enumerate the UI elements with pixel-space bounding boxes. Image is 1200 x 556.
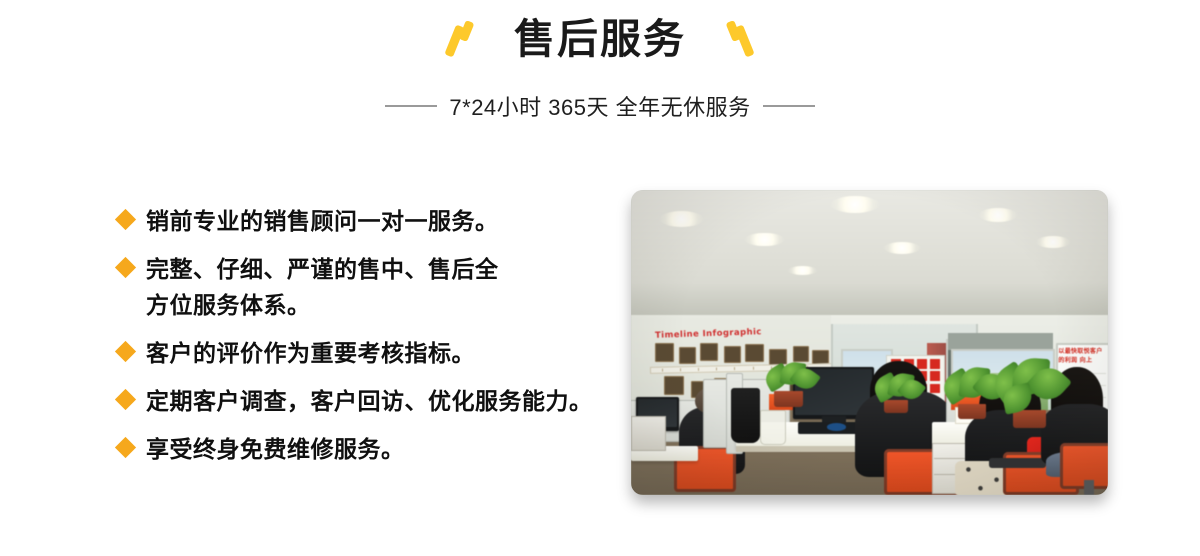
list-item-text-wrap: 完整、仔细、严谨的售中、售后全 方位服务体系。 (146, 251, 499, 323)
list-item-text: 完整、仔细、严谨的售中、售后全 (146, 256, 499, 282)
header-section: 售后服务 7*24小时 365天 全年无休服务 (0, 0, 1200, 140)
feature-list: 销前专业的销售顾问一对一服务。 完整、仔细、严谨的售中、售后全 方位服务体系。 … (118, 203, 618, 479)
chair-armrest (989, 458, 1046, 467)
double-slash-left-icon (438, 18, 480, 60)
timeline-tick (753, 367, 754, 370)
title-row: 售后服务 (0, 18, 1200, 60)
timeline-tick (734, 368, 735, 371)
window-blind (948, 333, 1053, 350)
ceiling-light (660, 211, 703, 226)
photo-frame (679, 347, 696, 364)
handbag (731, 388, 760, 443)
photo-frame (793, 346, 809, 363)
list-item: 享受终身免费维修服务。 (118, 431, 618, 467)
certificate (930, 371, 940, 381)
list-item: 完整、仔细、严谨的售中、售后全 方位服务体系。 (118, 251, 618, 323)
page-title: 售后服务 (514, 19, 686, 60)
plant-pot (1013, 410, 1046, 428)
photo-frame (724, 346, 741, 363)
page-subtitle: 7*24小时 365天 全年无休服务 (441, 90, 758, 122)
ceiling-light (745, 233, 783, 247)
photo-frame (745, 344, 763, 362)
slash-stroke-short (459, 20, 475, 42)
list-item: 客户的评价作为重要考核指标。 (118, 335, 618, 371)
certificate (917, 359, 927, 369)
list-item-text: 定期客户调查，客户回访、优化服务能力。 (146, 383, 593, 419)
plant-pot (958, 404, 987, 419)
subtitle-dash-left (385, 105, 437, 107)
double-slash-right-icon (720, 18, 762, 60)
timeline-tick (680, 369, 681, 372)
ceiling-light (884, 242, 920, 254)
ceiling-light (831, 196, 879, 213)
plant-pot (884, 400, 908, 412)
subtitle-row: 7*24小时 365天 全年无休服务 (0, 90, 1200, 122)
office-photo-content: Timeline Infographic (631, 190, 1108, 495)
photo-frame (664, 376, 683, 394)
list-item-text: 享受终身免费维修服务。 (146, 431, 405, 467)
photo-frame (700, 343, 718, 361)
mouse (827, 423, 846, 431)
ceiling-light (1036, 236, 1069, 248)
promo-banner: 售后服务 7*24小时 365天 全年无休服务 销前专业的销售顾问一对一服务。 … (0, 0, 1200, 556)
diamond-bullet-icon (115, 389, 136, 410)
diamond-bullet-icon (115, 257, 136, 278)
list-item: 定期客户调查，客户回访、优化服务能力。 (118, 383, 618, 419)
list-item: 销前专业的销售顾问一对一服务。 (118, 203, 618, 239)
chair-post (1084, 480, 1094, 495)
plant-pot (774, 391, 803, 406)
photo-frame (655, 343, 674, 362)
certificate (930, 359, 940, 369)
whiteboard-text: 以最快取悦客户的利润 向上 (1058, 346, 1108, 364)
subtitle-dash-right (763, 105, 815, 107)
timeline-tick (716, 368, 717, 371)
cabinet (631, 416, 666, 452)
certificate (930, 384, 940, 394)
diamond-bullet-icon (115, 209, 136, 230)
timeline-tick (662, 369, 663, 372)
diamond-bullet-icon (115, 437, 136, 458)
list-item-text: 客户的评价作为重要考核指标。 (146, 335, 475, 371)
glass-cup (760, 410, 786, 446)
timeline-tick (698, 368, 699, 371)
office-photo: Timeline Infographic (631, 190, 1108, 495)
list-item-text-continued: 方位服务体系。 (146, 287, 499, 323)
diamond-bullet-icon (115, 341, 136, 362)
list-item-text: 销前专业的销售顾问一对一服务。 (146, 203, 499, 239)
